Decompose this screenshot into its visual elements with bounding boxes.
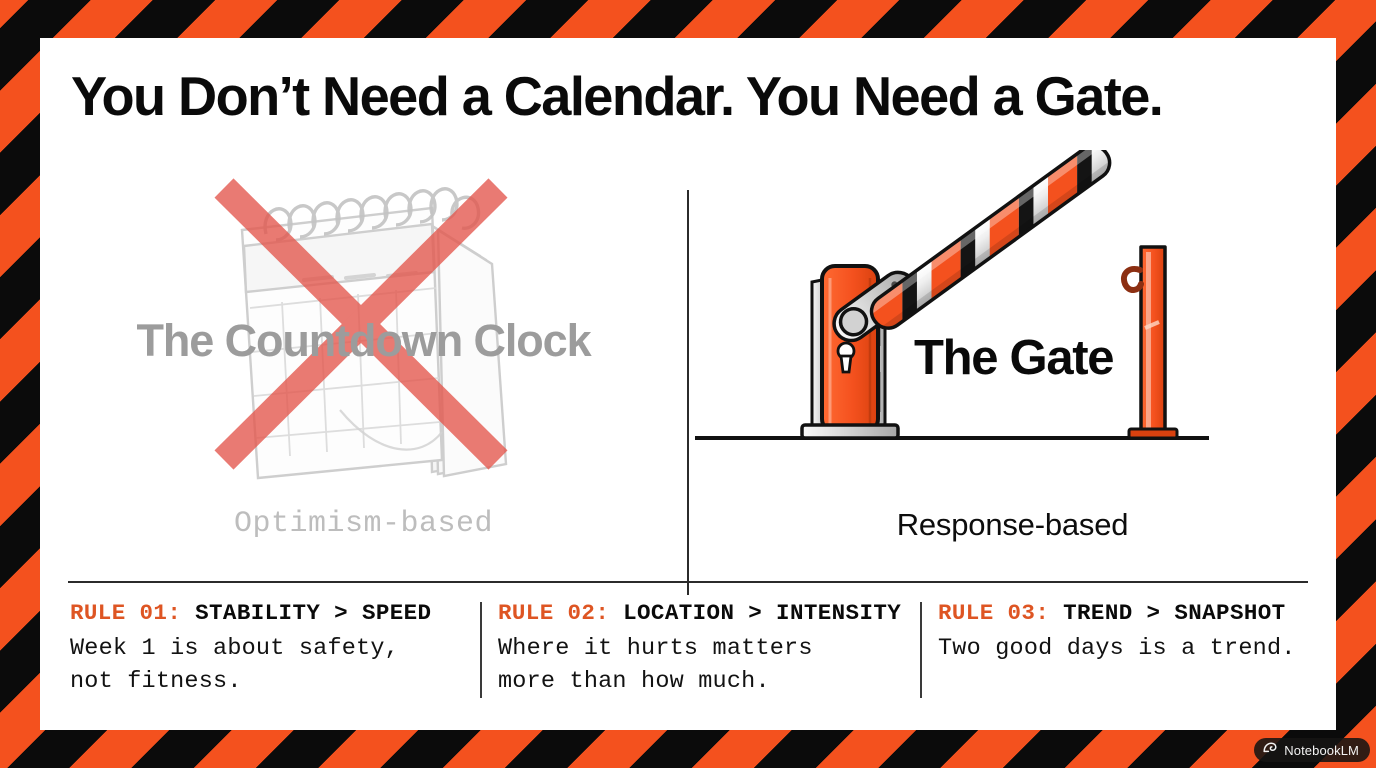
panel-gate: The Gate Response-based	[689, 150, 1336, 570]
rules-divider	[68, 581, 1308, 583]
rule-item-03: RULE 03: TREND > SNAPSHOT Two good days …	[920, 600, 1316, 710]
rule-number: RULE 03:	[938, 600, 1049, 626]
rule-item-02: RULE 02: LOCATION > INTENSITY Where it h…	[480, 600, 920, 710]
notebooklm-spiral-icon	[1262, 740, 1278, 761]
rule-separator	[920, 602, 922, 698]
panel-left-caption: Optimism-based	[40, 507, 687, 541]
comparison-panels: The Countdown Clock Optimism-based	[40, 150, 1336, 570]
rule-heading: RULE 01: STABILITY > SPEED	[70, 600, 462, 626]
rule-heading: RULE 02: LOCATION > INTENSITY	[498, 600, 902, 626]
panel-right-label: The Gate	[914, 330, 1113, 386]
panel-left-label: The Countdown Clock	[40, 315, 687, 367]
notebooklm-watermark: NotebookLM	[1254, 738, 1370, 762]
rule-title: STABILITY > SPEED	[195, 600, 431, 626]
notebooklm-label: NotebookLM	[1284, 743, 1359, 758]
rule-title: LOCATION > INTENSITY	[623, 600, 901, 626]
panel-countdown-clock: The Countdown Clock Optimism-based	[40, 150, 687, 570]
barrier-gate-icon	[689, 150, 1336, 498]
rule-body: Where it hurts matters more than how muc…	[498, 632, 902, 699]
infographic-stage: You Don’t Need a Calendar. You Need a Ga…	[0, 0, 1376, 768]
content-card: You Don’t Need a Calendar. You Need a Ga…	[40, 38, 1336, 730]
rule-title: TREND > SNAPSHOT	[1063, 600, 1285, 626]
rule-separator	[480, 602, 482, 698]
rule-number: RULE 01:	[70, 600, 181, 626]
rule-body: Week 1 is about safety, not fitness.	[70, 632, 462, 699]
page-title: You Don’t Need a Calendar. You Need a Ga…	[71, 68, 1292, 126]
rule-item-01: RULE 01: STABILITY > SPEED Week 1 is abo…	[68, 600, 480, 710]
rules-row: RULE 01: STABILITY > SPEED Week 1 is abo…	[68, 600, 1316, 710]
rule-heading: RULE 03: TREND > SNAPSHOT	[938, 600, 1298, 626]
rule-body: Two good days is a trend.	[938, 632, 1298, 665]
panel-right-caption: Response-based	[689, 507, 1336, 543]
rule-number: RULE 02:	[498, 600, 609, 626]
